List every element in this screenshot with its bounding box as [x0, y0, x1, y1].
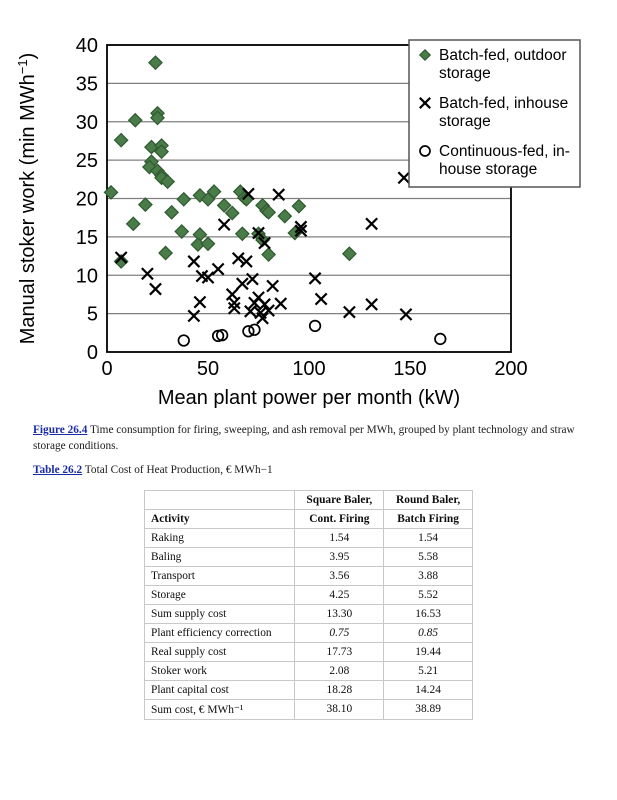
cell-square-baler: 17.73	[295, 643, 384, 662]
figure-26-4: 0510152025303540050100150200Mean plant p…	[0, 0, 617, 410]
cell-round-baler: 38.89	[384, 700, 473, 720]
header-blank	[145, 491, 295, 510]
legend-label: storage	[439, 65, 491, 82]
cost-table: Square Baler, Round Baler, Activity Cont…	[144, 490, 473, 720]
cell-round-baler: 5.52	[384, 586, 473, 605]
cell-round-baler: 5.58	[384, 548, 473, 567]
table-row: Sum supply cost13.3016.53	[145, 605, 473, 624]
cell-activity: Storage	[145, 586, 295, 605]
cell-round-baler: 5.21	[384, 662, 473, 681]
cell-round-baler: 0.85	[384, 624, 473, 643]
cell-activity: Plant efficiency correction	[145, 624, 295, 643]
cell-square-baler: 3.95	[295, 548, 384, 567]
cell-square-baler: 3.56	[295, 567, 384, 586]
figure-caption: Figure 26.4 Time consumption for firing,…	[33, 423, 599, 454]
cell-round-baler: 19.44	[384, 643, 473, 662]
cell-square-baler: 1.54	[295, 529, 384, 548]
header-round-baler-line2: Batch Firing	[384, 510, 473, 529]
table-row: Baling3.955.58	[145, 548, 473, 567]
legend-label: Continuous-fed, in-	[439, 143, 570, 160]
cost-table-container: Square Baler, Round Baler, Activity Cont…	[144, 490, 473, 720]
chart-legend: Batch-fed, outdoorstorageBatch-fed, inho…	[409, 40, 580, 187]
cell-round-baler: 3.88	[384, 567, 473, 586]
cost-table-head: Square Baler, Round Baler, Activity Cont…	[145, 491, 473, 529]
header-round-baler-line1: Round Baler,	[384, 491, 473, 510]
y-tick-label: 0	[87, 342, 98, 364]
cell-square-baler: 4.25	[295, 586, 384, 605]
cell-activity: Plant capital cost	[145, 681, 295, 700]
x-tick-label: 100	[292, 358, 325, 380]
cell-square-baler: 18.28	[295, 681, 384, 700]
cell-activity: Real supply cost	[145, 643, 295, 662]
y-tick-label: 20	[76, 189, 98, 211]
table-header-row-1: Square Baler, Round Baler,	[145, 491, 473, 510]
table-caption: Table 26.2 Total Cost of Heat Production…	[33, 463, 599, 479]
legend-label: storage	[439, 113, 491, 130]
y-tick-label: 40	[76, 35, 98, 57]
scatter-chart: 0510152025303540050100150200Mean plant p…	[0, 0, 617, 410]
y-tick-label: 30	[76, 112, 98, 134]
cell-round-baler: 1.54	[384, 529, 473, 548]
cell-activity: Sum supply cost	[145, 605, 295, 624]
y-tick-label: 10	[76, 265, 98, 287]
table-row: Raking1.541.54	[145, 529, 473, 548]
table-row: Stoker work2.085.21	[145, 662, 473, 681]
y-tick-label: 25	[76, 150, 98, 172]
header-activity: Activity	[145, 510, 295, 529]
cell-square-baler: 38.10	[295, 700, 384, 720]
figure-caption-link[interactable]: Figure 26.4	[33, 424, 87, 436]
table-row: Sum cost, € MWh⁻¹38.1038.89	[145, 700, 473, 720]
cost-table-body: Raking1.541.54Baling3.955.58Transport3.5…	[145, 529, 473, 720]
x-tick-label: 50	[197, 358, 219, 380]
x-axis-label: Mean plant power per month (kW)	[158, 387, 460, 409]
cell-activity: Stoker work	[145, 662, 295, 681]
y-tick-label: 35	[76, 73, 98, 95]
cell-square-baler: 0.75	[295, 624, 384, 643]
table-row: Real supply cost17.7319.44	[145, 643, 473, 662]
cell-square-baler: 2.08	[295, 662, 384, 681]
cell-activity: Transport	[145, 567, 295, 586]
cell-square-baler: 13.30	[295, 605, 384, 624]
table-caption-link[interactable]: Table 26.2	[33, 464, 82, 476]
cell-activity: Baling	[145, 548, 295, 567]
legend-label: Batch-fed, outdoor	[439, 47, 567, 64]
figure-caption-text: Time consumption for firing, sweeping, a…	[33, 424, 575, 452]
table-row: Plant efficiency correction0.750.85	[145, 624, 473, 643]
table-header-row-2: Activity Cont. Firing Batch Firing	[145, 510, 473, 529]
cell-round-baler: 16.53	[384, 605, 473, 624]
y-axis-label: Manual stoker work (min MWh−1)	[15, 53, 39, 345]
cell-round-baler: 14.24	[384, 681, 473, 700]
y-tick-label: 5	[87, 304, 98, 326]
x-tick-label: 150	[393, 358, 426, 380]
header-square-baler-line1: Square Baler,	[295, 491, 384, 510]
table-caption-text: Total Cost of Heat Production, € MWh−1	[82, 464, 273, 476]
x-tick-label: 200	[494, 358, 527, 380]
cell-activity: Raking	[145, 529, 295, 548]
table-row: Storage4.255.52	[145, 586, 473, 605]
legend-label: house storage	[439, 161, 537, 178]
y-tick-label: 15	[76, 227, 98, 249]
legend-label: Batch-fed, inhouse	[439, 95, 568, 112]
cell-activity: Sum cost, € MWh⁻¹	[145, 700, 295, 720]
x-tick-label: 0	[101, 358, 112, 380]
header-square-baler-line2: Cont. Firing	[295, 510, 384, 529]
table-row: Plant capital cost18.2814.24	[145, 681, 473, 700]
table-row: Transport3.563.88	[145, 567, 473, 586]
